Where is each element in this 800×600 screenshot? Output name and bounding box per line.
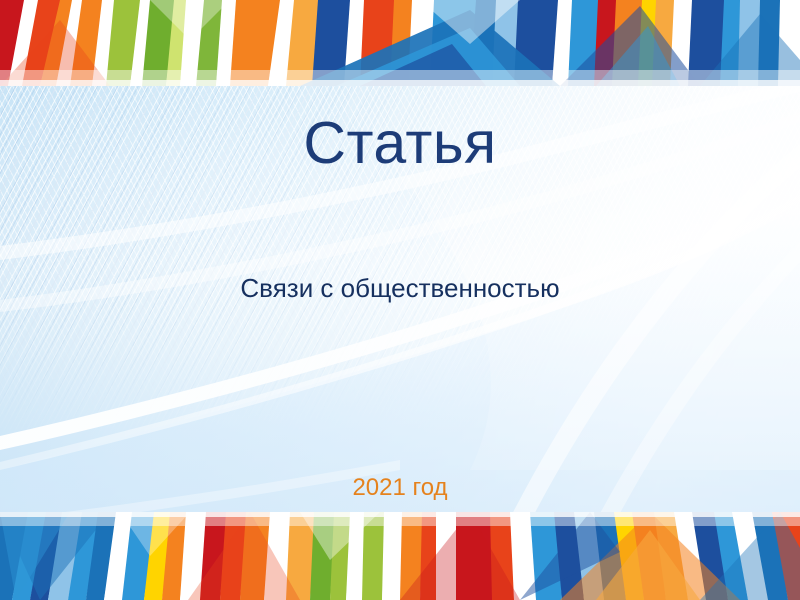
top-band-geometry — [0, 0, 800, 86]
title-placeholder[interactable]: Статья — [0, 112, 800, 176]
bottom-decorative-band — [0, 512, 800, 600]
year-placeholder[interactable]: 2021 год — [0, 474, 800, 503]
subtitle-placeholder[interactable]: Связи с общественностью — [0, 273, 800, 304]
presentation-slide: Статья Связи с общественностью 2021 год — [0, 0, 800, 600]
slide-year[interactable]: 2021 год — [0, 474, 800, 503]
bottom-band-geometry — [0, 512, 800, 600]
top-decorative-band — [0, 0, 800, 86]
slide-title[interactable]: Статья — [0, 112, 800, 176]
slide-subtitle[interactable]: Связи с общественностью — [0, 273, 800, 304]
